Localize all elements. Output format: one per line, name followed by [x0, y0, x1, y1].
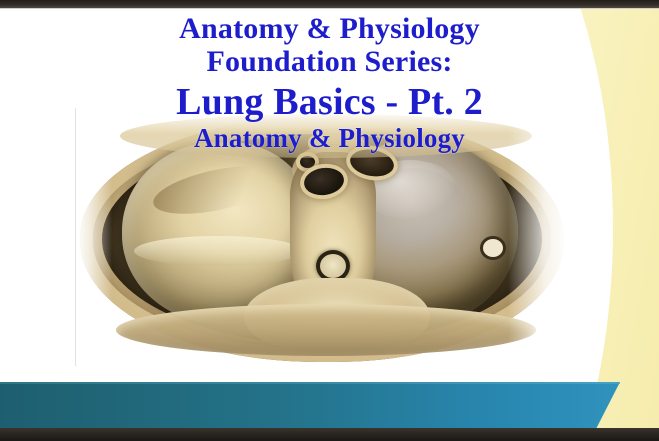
title-line-3-main: Lung Basics - Pt. 2	[0, 83, 659, 122]
title-line-1: Anatomy & Physiology	[0, 14, 659, 45]
title-line-2: Foundation Series:	[0, 47, 659, 78]
accent-band-highlight	[0, 382, 620, 384]
accent-band	[0, 382, 620, 429]
frame-bottom-bar	[0, 428, 659, 441]
presentation-slide: Anatomy & Physiology Foundation Series: …	[0, 0, 659, 441]
frame-top-bar	[0, 0, 659, 8]
peripheral-vessel-opening	[480, 236, 506, 260]
left-lung-highlight	[134, 236, 302, 266]
title-line-4-subtitle: Anatomy & Physiology	[0, 125, 659, 153]
anterior-chest-wall	[116, 304, 536, 356]
title-block: Anatomy & Physiology Foundation Series: …	[0, 14, 659, 152]
frame-top-hairline	[0, 8, 659, 9]
